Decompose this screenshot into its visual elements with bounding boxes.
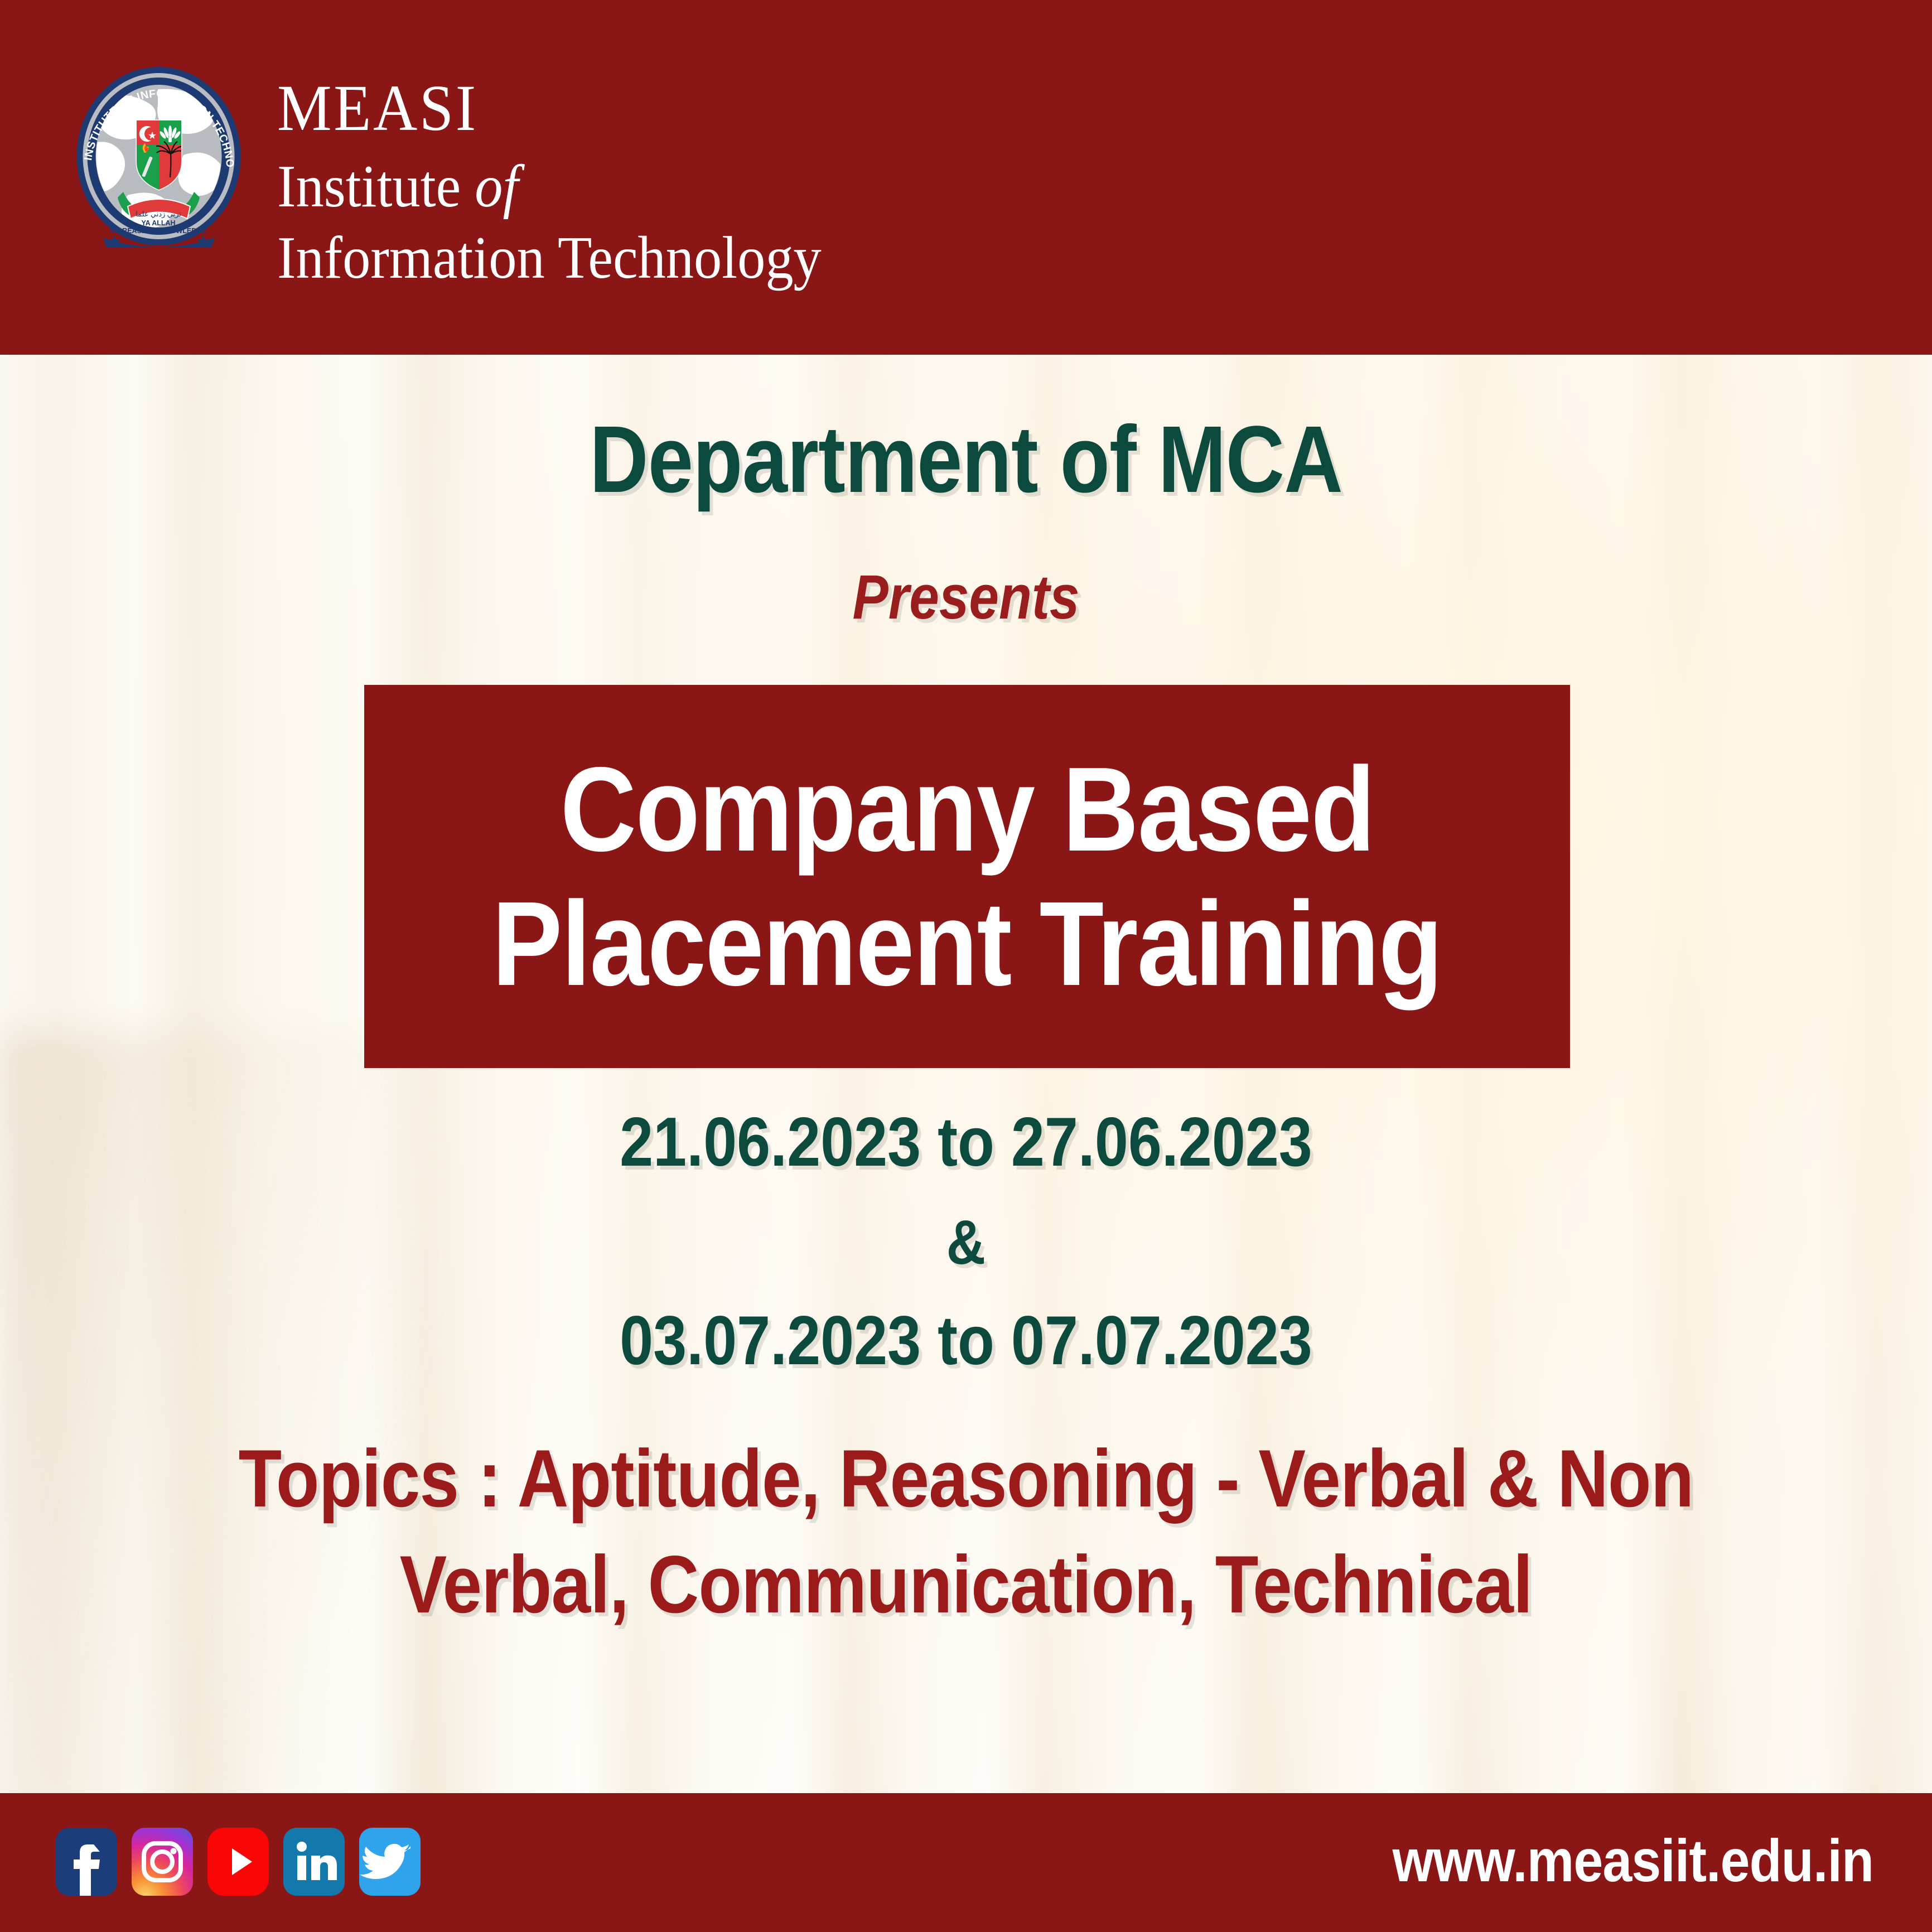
youtube-glyph (207, 1828, 269, 1896)
twitter-icon[interactable] (359, 1828, 421, 1896)
event-dates: 21.06.2023 to 27.06.2023 & 03.07.2023 to… (0, 1108, 1932, 1375)
twitter-glyph (359, 1828, 421, 1896)
svg-text:تربي زدني علما: تربي زدني علما (136, 210, 181, 219)
presents-label: Presents (135, 561, 1796, 633)
of-word: of (475, 153, 518, 220)
institute-word: Institute (277, 153, 475, 220)
linkedin-glyph (283, 1828, 345, 1896)
measi-logo: MEASI INSTITUTE OF INFORMATION TECHNOLOG… (74, 66, 243, 247)
facebook-glyph (56, 1828, 117, 1896)
topics-label: Topics : (239, 1433, 501, 1524)
youtube-icon[interactable] (207, 1828, 269, 1896)
measi-seal-icon: MEASI INSTITUTE OF INFORMATION TECHNOLOG… (74, 66, 243, 247)
event-title-line2: Placement Training (492, 877, 1442, 1011)
main-content: Department of MCA Presents Company Based… (0, 355, 1932, 1793)
footer-bar: www.measiit.edu.in (0, 1793, 1932, 1932)
instagram-glyph (132, 1828, 193, 1896)
topics-text-2: Verbal, Communication, Technical (125, 1532, 1807, 1638)
institution-line2: Institute of (277, 157, 822, 217)
date-range-1: 21.06.2023 to 27.06.2023 (125, 1108, 1807, 1177)
header-bar: MEASI INSTITUTE OF INFORMATION TECHNOLOG… (0, 0, 1932, 355)
date-range-2: 03.07.2023 to 07.07.2023 (125, 1306, 1807, 1375)
social-links (56, 1828, 421, 1896)
linkedin-icon[interactable] (283, 1828, 345, 1896)
topics-line-1: Topics :Aptitude, Reasoning - Verbal & N… (125, 1426, 1807, 1532)
topics-block: Topics :Aptitude, Reasoning - Verbal & N… (0, 1426, 1932, 1638)
date-conjunction: & (125, 1211, 1807, 1274)
institution-acronym: MEASI (277, 75, 822, 141)
svg-text:INCREASE MY KNOWLEDGE: INCREASE MY KNOWLEDGE (110, 227, 207, 235)
event-title-banner: Company Based Placement Training (364, 685, 1570, 1068)
svg-text:YA ALLAH: YA ALLAH (141, 219, 175, 227)
institution-name: MEASI Institute of Information Technolog… (277, 75, 862, 288)
facebook-icon[interactable] (56, 1828, 117, 1896)
poster-canvas: MEASI INSTITUTE OF INFORMATION TECHNOLOG… (0, 0, 1932, 1932)
svg-text:CHENNAI: CHENNAI (124, 245, 192, 247)
topics-text-1: Aptitude, Reasoning - Verbal & Non (518, 1433, 1694, 1524)
event-title-line1: Company Based (560, 742, 1374, 877)
department-title: Department of MCA (135, 405, 1796, 514)
institution-line3: Information Technology (277, 228, 822, 288)
website-url[interactable]: www.measiit.edu.in (1392, 1825, 1873, 1895)
instagram-icon[interactable] (132, 1828, 193, 1896)
